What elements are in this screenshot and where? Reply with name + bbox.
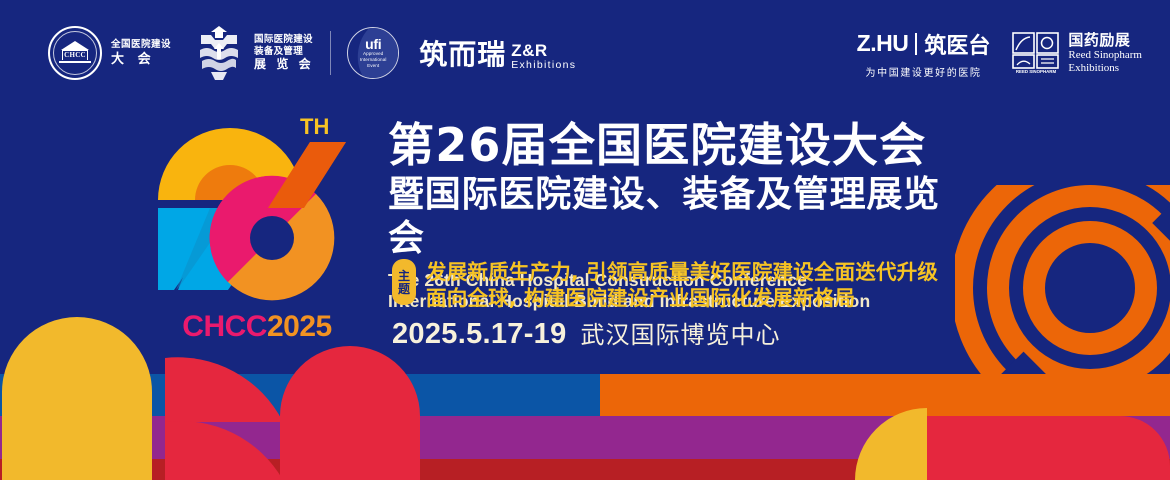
theme-line1: 发展新质生产力, 引领高质量美好医院建设全面迭代升级 [426, 259, 938, 285]
band-dark-red [0, 459, 1170, 480]
reed-sinopharm-exhibitions-logo: REED SINOPHARM 国药励展 Reed Sinopharm Exhib… [1012, 32, 1142, 75]
chcc-2025-wordmark: CHCC2025 [152, 310, 362, 344]
logo-divider [330, 31, 331, 75]
logo-group-left: CHCC 全国医院建设 大 会 [48, 22, 576, 84]
expo-logo-label: 国际医院建设 装备及管理 展 览 会 [254, 34, 314, 72]
theme-badge-char2: 题 [398, 283, 410, 296]
reed-cn-name: 国药励展 [1068, 32, 1142, 49]
wordmark-chcc: CHCC [182, 310, 267, 343]
reed-en-sub: Exhibitions [1068, 62, 1142, 75]
band-royal-blue [0, 374, 1170, 416]
zr-chinese-name: 筑而瑞 [419, 33, 506, 73]
zhu-yi-tai-logo: Z.HU 筑医台 为中国建设更好的医院 [857, 28, 991, 79]
reed-sinopharm-mark-icon: REED SINOPHARM [1012, 32, 1060, 74]
reed-en-name: Reed Sinopharm [1068, 49, 1142, 62]
reed-sinopharm-label: 国药励展 Reed Sinopharm Exhibitions [1068, 32, 1142, 75]
shape-crimson-block [927, 416, 1170, 480]
ufi-sub1: Approved [360, 51, 387, 57]
event-venue: 武汉国际博览中心 [581, 315, 781, 350]
chcc-seal-label: 全国医院建设 大 会 [111, 39, 171, 67]
theme-block: 主 题 发展新质生产力, 引领高质量美好医院建设全面迭代升级 面向全球, 构建医… [392, 259, 938, 311]
snowflake-building-icon [193, 25, 245, 81]
event-date: 2025.5.17-19 [392, 318, 567, 351]
chcc-conference-seal: CHCC 全国医院建设 大 会 [48, 26, 171, 80]
zr-en-name: Z&R [511, 42, 576, 60]
ufi-title: ufi [360, 37, 387, 51]
logo-ordinal-suffix: TH [300, 114, 329, 139]
band-orange [600, 374, 1170, 416]
zhu-mark: Z.HU [857, 30, 909, 57]
expo-line2: 装备及管理 [254, 46, 314, 58]
ufi-sub3: Event [360, 63, 387, 69]
chcc-2025-event-banner: CHCC 全国医院建设 大 会 [0, 0, 1170, 480]
logo-six-hole [250, 216, 294, 260]
international-hospital-expo-logo: 国际医院建设 装备及管理 展 览 会 [193, 25, 314, 81]
zr-en-sub: Exhibitions [511, 60, 576, 71]
seal-mark-text: CHCC [59, 51, 91, 59]
theme-text: 发展新质生产力, 引领高质量美好医院建设全面迭代升级 面向全球, 构建医院建设产… [426, 259, 938, 311]
chcc-26th-anniversary-mark: TH [150, 112, 350, 302]
seal-inner-ring: CHCC [53, 31, 97, 75]
ufi-approved-event-seal: ufi Approved International Event [347, 27, 399, 79]
shape-yellow-quarter [855, 408, 927, 480]
zhu-tagline: 为中国建设更好的医院 [857, 64, 991, 79]
theme-badge-char1: 主 [398, 270, 410, 283]
zhu-er-rui-z-and-r-logo: 筑而瑞 Z&R Exhibitions [419, 33, 576, 73]
chcc-seal-line2: 大 会 [111, 51, 171, 67]
title-chinese-line2: 暨国际医院建设、装备及管理展览会 [388, 173, 948, 261]
event-date-venue: 2025.5.17-19 武汉国际博览中心 [392, 315, 781, 351]
concentric-arcs-graphic [962, 160, 1170, 470]
reed-mark-caption: REED SINOPHARM [1016, 69, 1057, 74]
shape-crimson-quarter [165, 357, 283, 422]
zhu-divider [915, 33, 917, 55]
band-purple [0, 416, 1170, 459]
logo-group-right: Z.HU 筑医台 为中国建设更好的医院 [857, 22, 1142, 84]
shape-crimson-dome [280, 346, 420, 480]
zhu-chinese-name: 筑医台 [924, 28, 990, 60]
chcc-seal-line1: 全国医院建设 [111, 39, 171, 51]
seal-outer-ring: CHCC [48, 26, 102, 80]
wordmark-year: 2025 [267, 310, 332, 343]
expo-line1: 国际医院建设 [254, 34, 314, 46]
title-chinese-line1: 第26届全国医院建设大会 [388, 122, 948, 170]
theme-line2: 面向全球, 构建医院建设产业国际化发展新格局 [426, 285, 938, 311]
partner-logo-bar: CHCC 全国医院建设 大 会 [0, 22, 1170, 84]
expo-line3: 展 览 会 [254, 57, 314, 72]
hospital-building-icon: CHCC [59, 41, 91, 65]
theme-badge: 主 题 [392, 259, 416, 305]
shape-yellow-pillar [2, 317, 152, 480]
